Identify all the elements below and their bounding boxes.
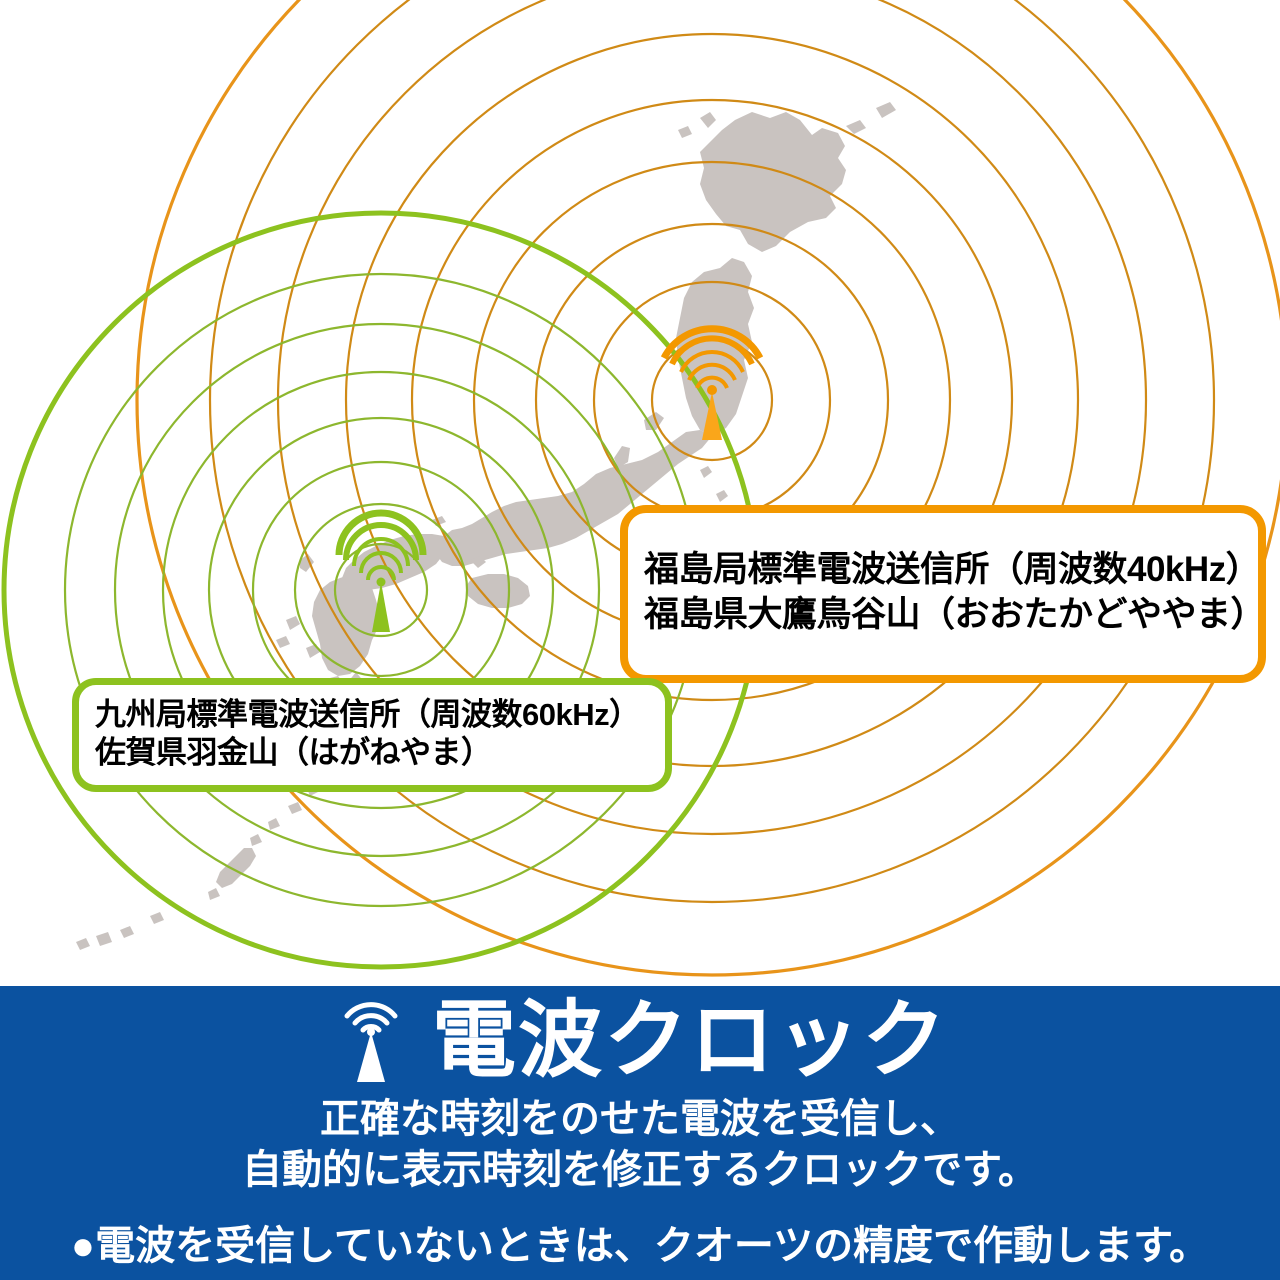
- callout-fukushima[interactable]: 福島局標準電波送信所（周波数40kHz） 福島県大鷹鳥谷山（おおたかどややま）: [620, 505, 1266, 683]
- banner-note: ●電波を受信していないときは、クオーツの精度で作動します。: [71, 1222, 1209, 1270]
- callout-kyushu[interactable]: 九州局標準電波送信所（周波数60kHz） 佐賀県羽金山（はがねやま）: [72, 678, 672, 792]
- japan-map-panel: 福島局標準電波送信所（周波数40kHz） 福島県大鷹鳥谷山（おおたかどややま） …: [0, 0, 1280, 986]
- callout-kyushu-line1: 九州局標準電波送信所（周波数60kHz）: [95, 696, 649, 734]
- banner-subtitle-line1: 正確な時刻をのせた電波を受信し、: [242, 1094, 1038, 1145]
- banner-title: 電波クロック: [432, 998, 948, 1082]
- radio-clock-infographic: 福島局標準電波送信所（周波数40kHz） 福島県大鷹鳥谷山（おおたかどややま） …: [0, 0, 1280, 1280]
- callout-fukushima-line2: 福島県大鷹鳥谷山（おおたかどややま）: [644, 593, 1242, 638]
- callout-fukushima-line1: 福島局標準電波送信所（周波数40kHz）: [644, 548, 1242, 593]
- japan-map-svg: [0, 0, 1280, 986]
- callout-kyushu-line2: 佐賀県羽金山（はがねやま）: [95, 734, 649, 772]
- banner-subtitle: 正確な時刻をのせた電波を受信し、 自動的に表示時刻を修正するクロックです。: [242, 1094, 1038, 1196]
- banner-subtitle-line2: 自動的に表示時刻を修正するクロックです。: [242, 1145, 1038, 1196]
- banner-title-row: 電波クロック: [332, 992, 948, 1088]
- radio-clock-banner: 電波クロック 正確な時刻をのせた電波を受信し、 自動的に表示時刻を修正するクロッ…: [0, 986, 1280, 1280]
- radio-wave-antenna-icon: [332, 992, 410, 1088]
